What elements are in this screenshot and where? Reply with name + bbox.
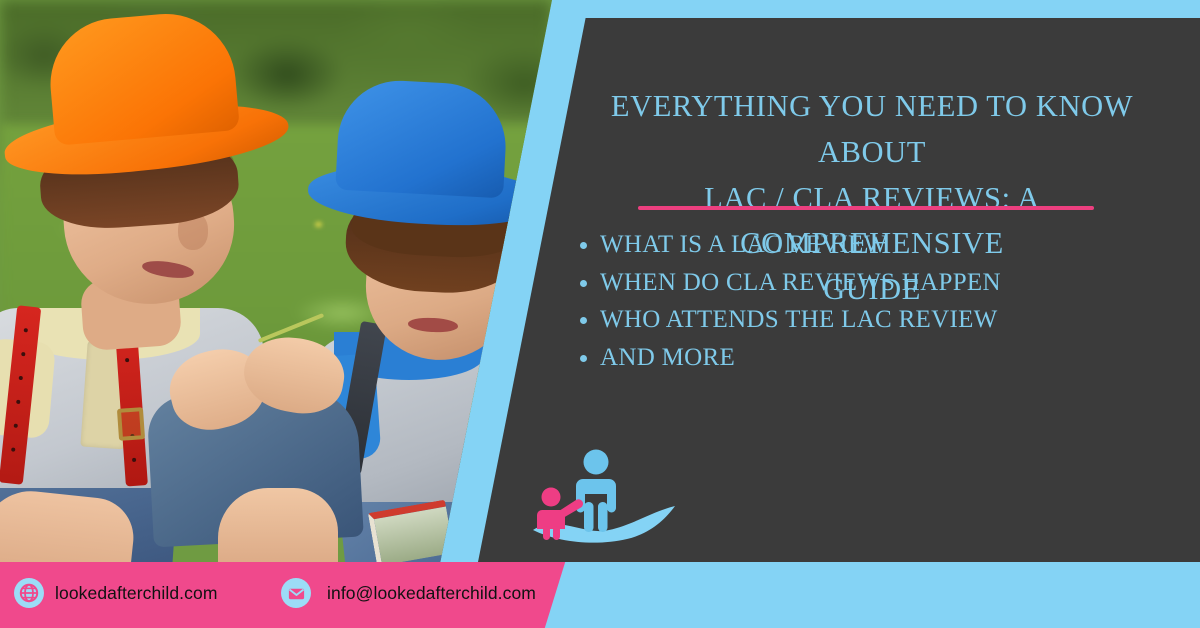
child-leg-1 bbox=[543, 526, 550, 540]
list-item: What is a LAC Review bbox=[560, 228, 1160, 263]
contact-website[interactable]: lookedafterchild.com bbox=[14, 578, 218, 608]
footer-bar: lookedafterchild.com info@lookedafterchi… bbox=[0, 562, 1200, 628]
contact-email[interactable]: info@lookedafterchild.com bbox=[281, 578, 536, 608]
blue-hat-crown bbox=[335, 78, 509, 199]
banner-graphic: Everything You Need to Know About LAC / … bbox=[0, 0, 1200, 628]
hero-photo bbox=[0, 0, 552, 564]
topics-list: What is a LAC Review When Do CLA Reviews… bbox=[560, 228, 1160, 378]
list-item: When Do CLA Reviews Happen bbox=[560, 266, 1160, 301]
child-leg-2 bbox=[553, 526, 560, 540]
photo-scene bbox=[0, 0, 552, 564]
lookedafterchild-logo bbox=[525, 444, 685, 549]
hands-group bbox=[170, 322, 400, 452]
envelope-icon bbox=[281, 578, 311, 608]
adult-leg-2 bbox=[598, 502, 608, 532]
knee-center bbox=[218, 488, 338, 564]
list-item: Who Attends the LAC Review bbox=[560, 303, 1160, 338]
title-divider bbox=[638, 206, 1094, 210]
child-head-icon bbox=[542, 488, 561, 507]
globe-icon bbox=[14, 578, 44, 608]
suspender-buckle bbox=[117, 407, 145, 441]
orange-hat-crown bbox=[45, 8, 240, 146]
panel-content: Everything You Need to Know About LAC / … bbox=[520, 0, 1200, 564]
adult-head-icon bbox=[584, 450, 609, 475]
logo-svg bbox=[525, 444, 685, 549]
title-line-1: Everything You Need to Know About bbox=[580, 84, 1164, 176]
list-item: And More bbox=[560, 341, 1160, 376]
website-url[interactable]: lookedafterchild.com bbox=[55, 583, 218, 604]
adult-leg-1 bbox=[584, 502, 594, 532]
email-address[interactable]: info@lookedafterchild.com bbox=[327, 583, 536, 604]
adult-body-icon bbox=[576, 479, 616, 513]
